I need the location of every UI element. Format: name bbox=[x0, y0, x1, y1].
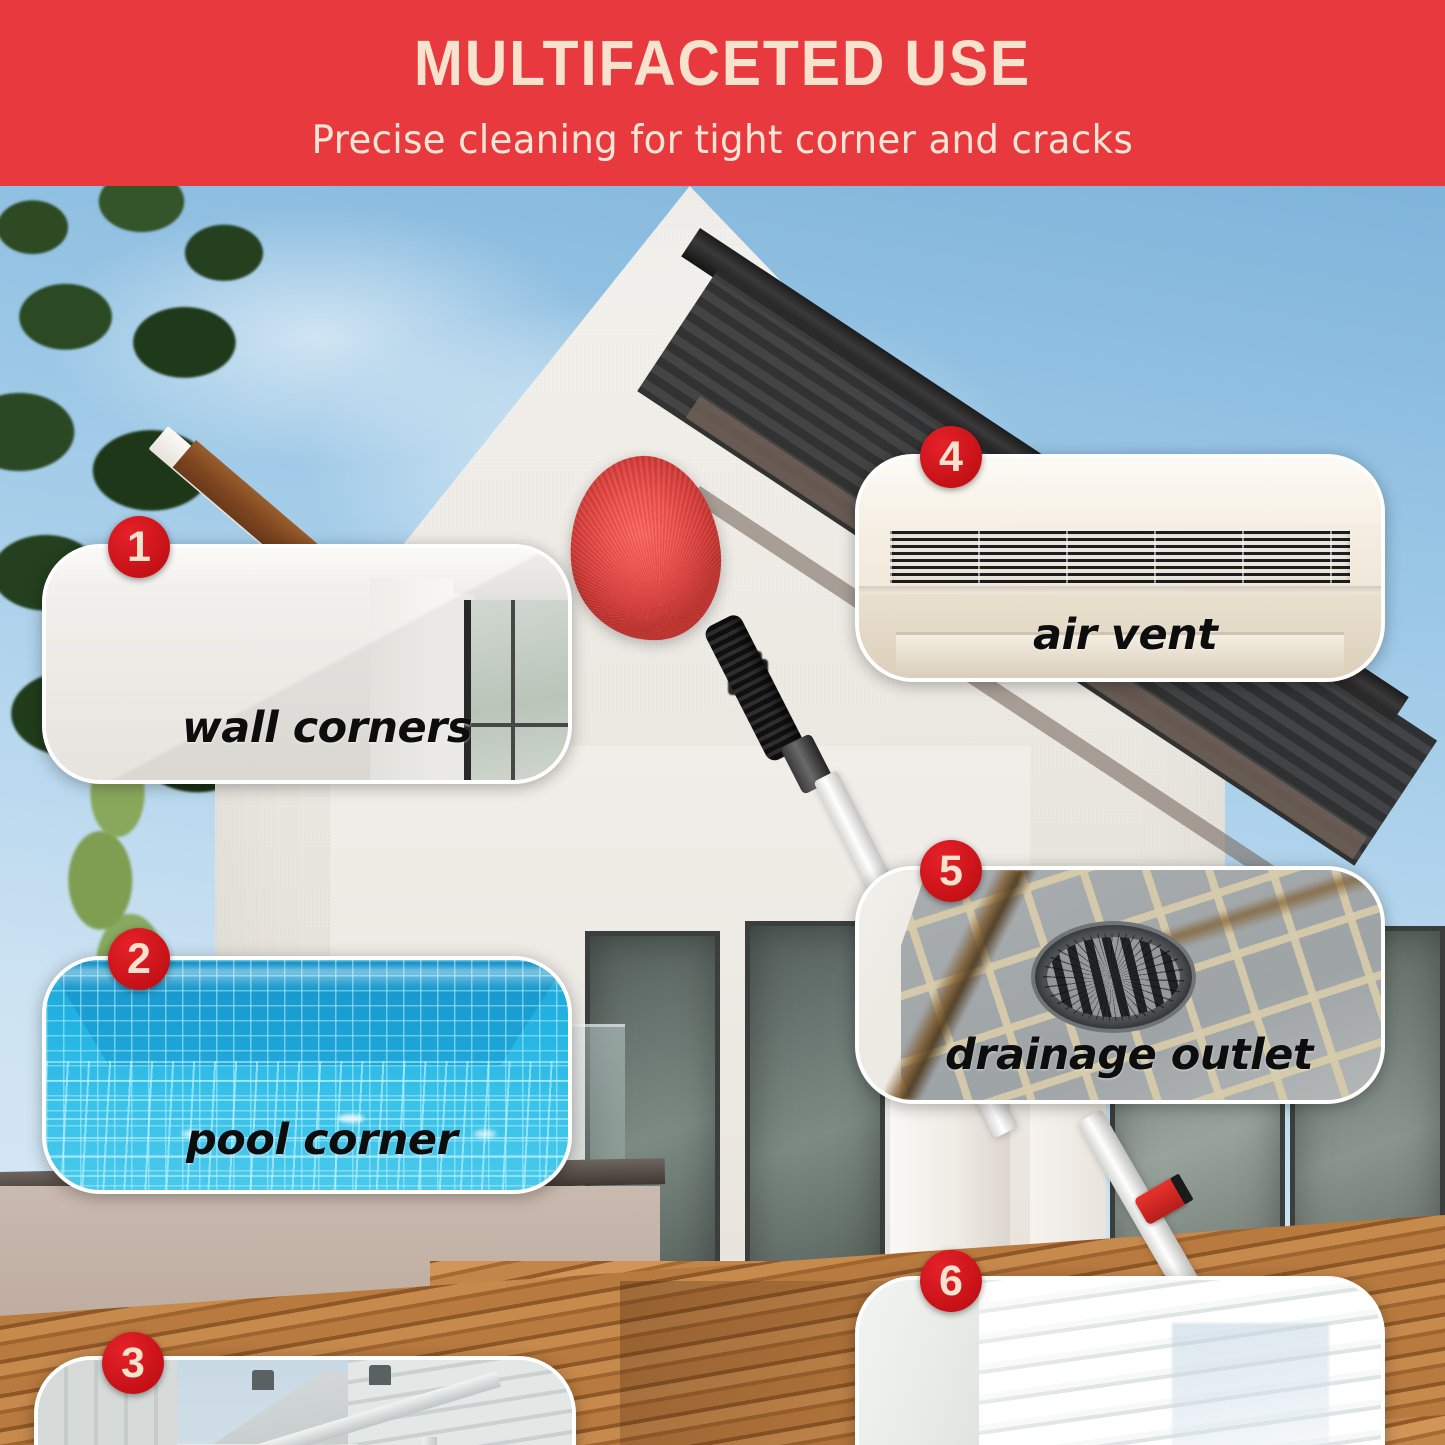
callout-card-wall-corners[interactable]: wall corners bbox=[42, 544, 572, 784]
callout-badge-1: 1 bbox=[108, 516, 170, 578]
callout-label-4: air vent bbox=[1033, 610, 1217, 660]
callout-label-2: pool corner bbox=[186, 1115, 457, 1165]
callout-badge-3: 3 bbox=[102, 1332, 164, 1394]
callout-card-drainage-outlet[interactable]: drainage outlet bbox=[855, 866, 1385, 1104]
callout-label-5: drainage outlet bbox=[945, 1030, 1313, 1080]
page-subtitle: Precise cleaning for tight corner and cr… bbox=[312, 121, 1134, 160]
callout-badge-6: 6 bbox=[920, 1250, 982, 1312]
callout-label-1: wall corners bbox=[182, 703, 472, 753]
callout-card-air-vent[interactable]: air vent bbox=[855, 454, 1385, 682]
callout-card-pool-corner[interactable]: pool corner bbox=[42, 956, 572, 1194]
product-scene-photo: wall corners 1 pool corner 2 o bbox=[0, 186, 1445, 1445]
page-title: MULTIFACETED USE bbox=[414, 31, 1031, 95]
callout-badge-4: 4 bbox=[920, 426, 982, 488]
callout-badge-5: 5 bbox=[920, 840, 982, 902]
header-banner: MULTIFACETED USE Precise cleaning for ti… bbox=[0, 0, 1445, 186]
callout-badge-2: 2 bbox=[108, 928, 170, 990]
infographic-page: MULTIFACETED USE Precise cleaning for ti… bbox=[0, 0, 1445, 1445]
